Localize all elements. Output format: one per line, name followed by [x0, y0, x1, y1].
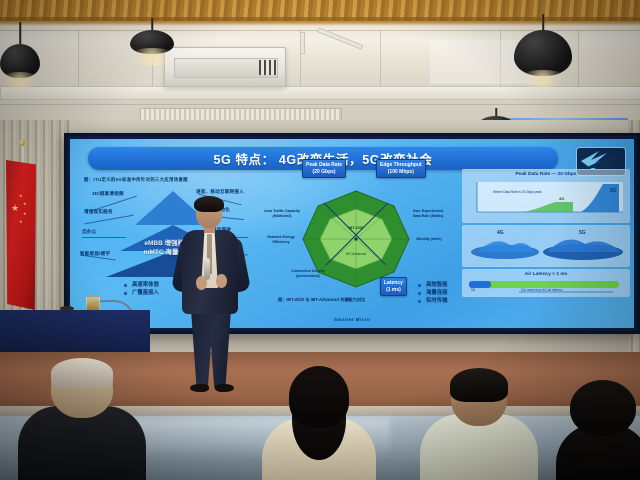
audience-member-2	[262, 362, 376, 480]
slide-subheading: 图：ITU定义的5G标准中所针对的三大应用场景图	[84, 177, 188, 183]
panel-bar-label: 5G	[471, 288, 475, 292]
radar-axis-label: User Experienced Data Rate (Mbit/s)	[410, 209, 446, 218]
left-bullet-list: 高速率体验 广覆盖接入	[124, 281, 159, 297]
pyramid-label-left: 智能家居/楼宇	[80, 251, 110, 257]
ceiling-cassette-ac-unit	[164, 47, 286, 87]
svg-text:5G: 5G	[610, 188, 617, 194]
callout-value: (20 Gbps)	[306, 169, 342, 176]
callout-value: (1 ms)	[384, 287, 403, 294]
list-item: 高效智能	[418, 281, 448, 289]
panel-title: Peak Data Rate — 20 Gbps	[463, 172, 629, 177]
ac-vent	[259, 60, 277, 75]
presenter-legs	[191, 310, 231, 388]
list-item: 广覆盖接入	[124, 289, 159, 297]
presenter-shoe-left	[190, 384, 209, 392]
radar-axis-label: Mobility (km/h)	[412, 237, 446, 242]
callout-value: (100 Mbps)	[380, 169, 422, 176]
ceiling-line	[578, 30, 579, 86]
peak-data-rate-panel: Peak Data Rate — 20 Gbps 5G 4G Where Dat…	[462, 169, 630, 223]
flag-star-small: ★	[23, 202, 27, 206]
flag-star-small: ★	[19, 194, 23, 198]
callout-edge-throughput: Edge Throughput (100 Mbps)	[376, 159, 426, 178]
audience-hair	[450, 368, 508, 402]
device-comparison-panel: 4G 5G	[462, 225, 630, 267]
radar-axis-label: Connection Density (devices/km2)	[286, 269, 330, 278]
svg-text:IMT-2020: IMT-2020	[348, 226, 363, 230]
presenter-hair	[194, 196, 224, 212]
svg-text:5G: 5G	[579, 230, 586, 236]
audience-member-1	[18, 372, 146, 480]
pyramid-label-right: 语音、移动互联网接入	[196, 189, 244, 195]
pyramid-label-left: 增强现实服务	[84, 209, 113, 215]
callout-title: Peak Data Rate	[306, 162, 342, 169]
svg-text:4G: 4G	[497, 230, 504, 236]
list-item: 高速率体验	[124, 281, 159, 289]
presentation-slide: 5G 特点： 4G改变生活，5G改变社会 图：ITU定义的5G标准中所针对的三大…	[70, 139, 634, 328]
pendant-lamp-right	[512, 14, 574, 86]
ceiling-line	[0, 104, 640, 105]
flag-pole-finial	[19, 140, 25, 146]
presenter-shoe-right	[215, 384, 234, 392]
audience-head	[289, 366, 349, 428]
presenter-hand-right	[216, 274, 227, 288]
pendant-lamp-left	[0, 22, 40, 88]
list-item: 实时传输	[418, 297, 448, 305]
panel-note: Where Data Rate is 20 Gbps peak	[493, 190, 542, 194]
callout-title: Edge Throughput	[380, 162, 422, 169]
radar-axis-label: Area Traffic Capacity (Mbit/s/m2)	[262, 209, 302, 218]
chinese-national-flag: ★ ★ ★ ★ ★	[6, 160, 36, 310]
radar-caption: 图：IMT-2020 与 IMT-Advanced 关键能力对比	[278, 297, 365, 303]
leader-line	[82, 237, 126, 238]
callout-peak-data-rate: Peak Data Rate (20 Gbps)	[302, 159, 346, 178]
device-illustrations: 4G 5G	[463, 226, 629, 266]
peak-rate-chart: 5G 4G	[463, 180, 629, 220]
flag-star-large: ★	[11, 204, 19, 213]
svg-text:IMT-Advanced: IMT-Advanced	[346, 252, 367, 256]
pendant-lamp-center-left	[130, 18, 174, 88]
audience-head	[570, 380, 636, 436]
audience-member-3	[420, 376, 538, 480]
panel-title: Air Latency < 1 ms	[463, 272, 629, 277]
pyramid-label-left: 3D/超高清视频	[92, 191, 124, 197]
ceiling-duct	[0, 86, 640, 100]
callout-latency: Latency (1 ms)	[380, 277, 407, 296]
screenshot-root: 5G 特点： 4G改变生活，5G改变社会 图：ITU定义的5G标准中所针对的三大…	[0, 0, 640, 480]
audience-member-4	[556, 388, 640, 480]
flag-star-small: ★	[23, 212, 27, 216]
ac-pipe	[300, 32, 305, 54]
flag-star-small: ★	[19, 220, 23, 224]
projection-screen[interactable]: 5G 特点： 4G改变生活，5G改变社会 图：ITU定义的5G标准中所针对的三大…	[64, 133, 640, 334]
callout-title: Latency	[384, 280, 403, 287]
latency-bar	[463, 279, 629, 295]
panel-note: 10x lower than 4G air latency	[521, 288, 562, 292]
presenter	[178, 198, 244, 403]
leader-line	[84, 215, 133, 225]
presenter-hand-left	[196, 276, 207, 290]
pyramid-label-left: 云办公	[82, 229, 96, 235]
svg-text:4G: 4G	[559, 196, 564, 201]
slide-footer: Smarter Micro	[334, 317, 370, 322]
air-latency-panel: Air Latency < 1 ms 5G 10x lower than 4G …	[462, 269, 630, 297]
list-item: 海量连接	[418, 289, 448, 297]
right-bullet-list: 高效智能 海量连接 实时传输	[418, 281, 448, 305]
radar-axis-label: Network Energy Efficiency	[260, 235, 302, 244]
ceiling-line	[380, 30, 381, 86]
audience-hair	[51, 358, 113, 388]
ceiling-line	[78, 30, 79, 86]
